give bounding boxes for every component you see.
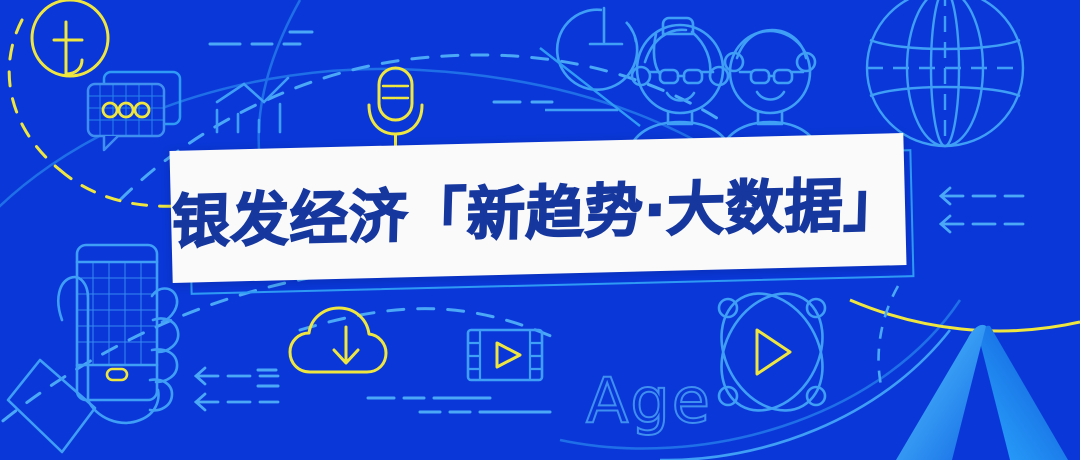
dashed-line-icon [210, 32, 552, 102]
cloud-download-icon [290, 308, 386, 372]
age-word-decor: Age [586, 370, 712, 432]
arrow-left-dashed-icon [941, 188, 1023, 232]
title-plate: 银发经济「新趋势·大数据」 [169, 133, 906, 283]
cursor-circle-icon [32, 0, 108, 76]
chat-bubble-icon [88, 72, 180, 150]
promo-banner: Age 银发经济「新趋势·大数据」 [0, 0, 1080, 460]
title-plate-wrap: 银发经济「新趋势·大数据」 [171, 142, 909, 282]
clock-icon [557, 8, 637, 90]
smartphone-in-hand-icon [8, 245, 178, 452]
play-triangle-icon [497, 343, 520, 367]
dashed-line-icon [258, 370, 550, 412]
home-button-icon [107, 369, 127, 380]
microphone-icon [369, 68, 422, 146]
diagonal-line-icon [540, 48, 640, 126]
play-triangle-icon [757, 330, 790, 374]
orbit-play-icon [701, 275, 843, 428]
arrow-left-dashed-icon [196, 368, 278, 410]
globe-icon [867, 0, 1023, 146]
film-strip-play-icon [468, 330, 542, 380]
page-title: 银发经济「新趋势·大数据」 [171, 157, 904, 259]
